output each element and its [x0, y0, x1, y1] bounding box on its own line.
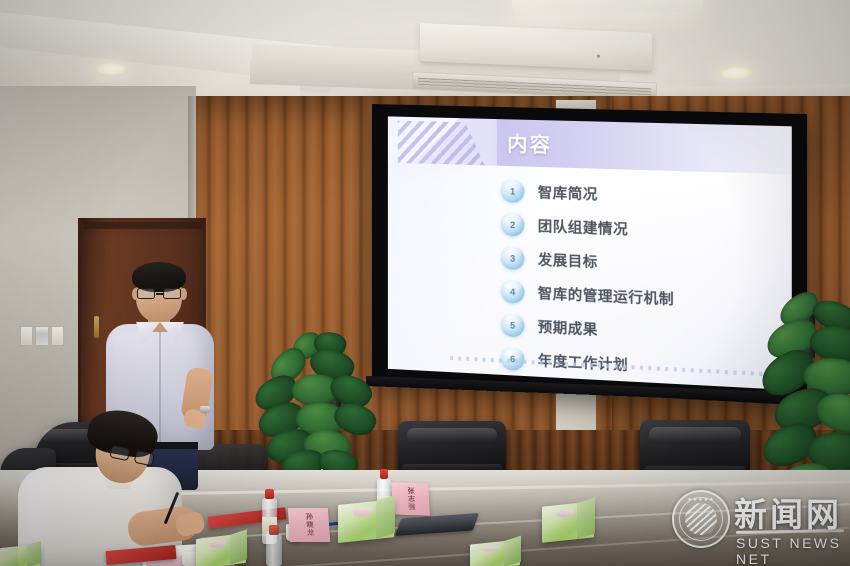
tissue-box-oval — [209, 539, 227, 548]
slide-surface: 内容 1 智库简况 2 团队组建情况 3 — [388, 116, 792, 390]
name-card-reflection — [392, 492, 430, 516]
list-item-label: 智库简况 — [538, 182, 598, 204]
tissue-box — [0, 544, 40, 566]
tissue-box — [338, 499, 394, 543]
ceiling-downlight — [94, 63, 128, 76]
list-item-label: 智库的管理运行机制 — [538, 283, 674, 309]
door-handle[interactable] — [94, 316, 99, 338]
door-top-trim — [84, 222, 202, 229]
tissue-box-reflection — [338, 507, 394, 543]
bullet-orb-icon: 1 — [501, 179, 525, 203]
list-item-label: 发展目标 — [538, 249, 598, 272]
tissue-box-side — [27, 541, 41, 566]
water-bottle[interactable] — [266, 534, 282, 566]
chair-highlight — [649, 427, 741, 442]
light-switch[interactable] — [20, 326, 33, 346]
tissue-box — [542, 501, 594, 542]
projection-screen: 内容 1 智库简况 2 团队组建情况 3 — [372, 104, 807, 406]
light-switch[interactable] — [51, 326, 64, 346]
bullet-number: 1 — [510, 186, 515, 196]
name-card-reflection — [288, 518, 330, 542]
ceiling-skylight — [512, 0, 702, 12]
bullet-number: 6 — [510, 353, 515, 363]
list-item-label: 团队组建情况 — [538, 215, 628, 239]
bullet-number: 2 — [510, 219, 515, 229]
bullet-number: 3 — [510, 253, 515, 263]
list-item-label: 预期成果 — [538, 316, 598, 339]
bullet-orb-icon: 3 — [501, 246, 525, 270]
bottle-cap — [380, 469, 389, 479]
tissue-box-side — [504, 536, 521, 566]
bullet-orb-icon: 4 — [501, 279, 525, 303]
name-card: 孙晓龙 — [288, 508, 330, 542]
bottle-cap — [265, 489, 275, 499]
tissue-box-reflection — [542, 508, 594, 542]
bullet-orb-icon: 5 — [501, 313, 525, 337]
light-switch-panel[interactable] — [20, 326, 64, 346]
thermostat-icon[interactable] — [35, 326, 48, 346]
bullet-orb-icon: 2 — [501, 212, 525, 236]
slide-agenda-list: 1 智库简况 2 团队组建情况 3 发展目标 — [388, 166, 792, 390]
bottle-cap — [269, 525, 279, 535]
tissue-box — [470, 539, 520, 566]
tissue-box-oval — [483, 545, 501, 553]
slide-title: 内容 — [507, 127, 552, 158]
bullet-number: 4 — [510, 286, 515, 296]
eyeglasses-icon — [136, 288, 182, 300]
tissue-box — [196, 533, 246, 566]
bullet-number: 5 — [510, 320, 515, 330]
chair-highlight — [407, 428, 498, 442]
photo-scene: 内容 1 智库简况 2 团队组建情况 3 — [0, 0, 850, 566]
tissue-box-side — [230, 529, 247, 565]
name-card: 张志强 — [391, 482, 430, 515]
